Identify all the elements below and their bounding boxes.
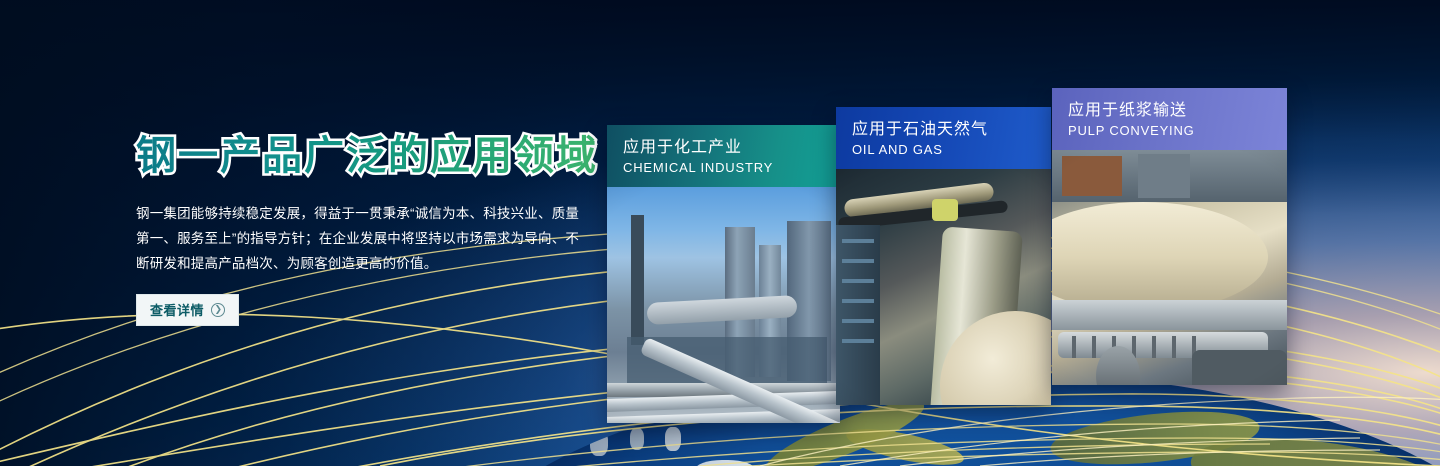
card-title-cn: 应用于化工产业: [623, 138, 840, 158]
view-details-button[interactable]: 查看详情 ❯: [136, 294, 239, 326]
card-header: 应用于纸浆输送 PULP CONVEYING: [1052, 88, 1287, 150]
card-header: 应用于化工产业 CHEMICAL INDUSTRY: [607, 125, 840, 187]
card-title-cn: 应用于石油天然气: [852, 120, 1051, 140]
card-image-oil-gas: [836, 169, 1051, 405]
application-card-oil-gas[interactable]: 应用于石油天然气 OIL AND GAS: [836, 107, 1051, 405]
card-title-en: PULP CONVEYING: [1068, 122, 1287, 139]
hero-copy-block: 钢一产品广泛的应用领域 钢一产品广泛的应用领域 钢一集团能够持续稳定发展，得益于…: [136, 133, 596, 326]
page-title: 钢一产品广泛的应用领域 钢一产品广泛的应用领域: [136, 133, 596, 181]
page-title-fill: 钢一产品广泛的应用领域: [136, 133, 598, 179]
card-header: 应用于石油天然气 OIL AND GAS: [836, 107, 1051, 169]
card-title-en: OIL AND GAS: [852, 141, 1051, 158]
chevron-right-icon: ❯: [211, 303, 225, 317]
hero-banner: 钢一产品广泛的应用领域 钢一产品广泛的应用领域 钢一集团能够持续稳定发展，得益于…: [0, 0, 1440, 466]
application-card-pulp[interactable]: 应用于纸浆输送 PULP CONVEYING: [1052, 88, 1287, 385]
hero-description: 钢一集团能够持续稳定发展，得益于一贯秉承“诚信为本、科技兴业、质量第一、服务至上…: [136, 201, 581, 276]
application-card-chemical[interactable]: 应用于化工产业 CHEMICAL INDUSTRY: [607, 125, 840, 423]
view-details-label: 查看详情: [150, 300, 204, 319]
card-title-cn: 应用于纸浆输送: [1068, 101, 1287, 121]
card-image-pulp: [1052, 150, 1287, 385]
card-title-en: CHEMICAL INDUSTRY: [623, 159, 840, 176]
card-image-chemical: [607, 187, 840, 423]
